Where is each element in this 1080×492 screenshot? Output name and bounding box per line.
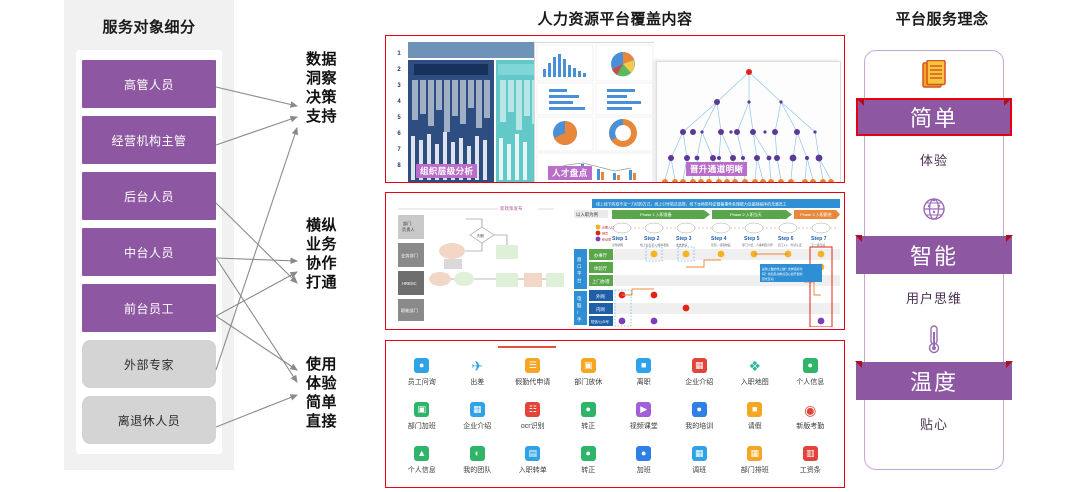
svg-text:录用通知: 录用通知 xyxy=(612,243,623,247)
resignation-icon: ■ xyxy=(636,358,651,373)
app-icon-item[interactable]: ◉新版考勤 xyxy=(783,399,839,443)
app-icon-item[interactable]: ●员工问询 xyxy=(394,355,450,399)
department-overtime-icon: ▣ xyxy=(414,402,429,417)
svg-text:电: 电 xyxy=(577,295,582,301)
new-attendance-icon: ◉ xyxy=(803,402,818,417)
panel-analytics-screenshots[interactable]: 1 2 3 4 5 6 7 8 xyxy=(385,35,845,183)
svg-text:发送邀请: 发送邀请 xyxy=(676,243,687,247)
svg-text:是线上做的线上做？这样选好时: 是线上做的线上做？这样选好时 xyxy=(762,266,803,271)
svg-text:部门介绍、人事制度宣导: 部门介绍、人事制度宣导 xyxy=(742,243,773,247)
svg-text:线上信息录入/材料收集: 线上信息录入/材料收集 xyxy=(640,243,669,247)
svg-text:吗？将您足动重点自心如开展的: 吗？将您足动重点自心如开展的 xyxy=(762,271,803,276)
channel-swimlane-matrix: 线上线下的双不足一刀切的方式，线上引导简洁选择，线下本地带特定整备事件处理能力及… xyxy=(574,197,842,327)
company-intro-icon: ▦ xyxy=(692,358,707,373)
app-icon-item[interactable]: ■请假 xyxy=(727,399,783,443)
center-panel-title: 人力资源平台覆盖内容 xyxy=(385,8,845,29)
outcome-label-data-insight: 数据 洞察 决策 支持 xyxy=(306,50,362,126)
svg-text:Phase 3 入职跟进: Phase 3 入职跟进 xyxy=(800,211,832,217)
leave-request-icon: ■ xyxy=(747,402,762,417)
app-icon-item[interactable]: ✈出差 xyxy=(450,355,506,399)
segment-item[interactable]: 经营机构主管 xyxy=(82,116,216,164)
pillar-banner-simple[interactable]: 简单 xyxy=(856,98,1012,136)
segment-item[interactable]: 中台人员 xyxy=(82,228,216,276)
svg-text:内网: 内网 xyxy=(596,306,605,313)
svg-text:台: 台 xyxy=(577,277,582,284)
svg-text:Step 3: Step 3 xyxy=(676,236,692,242)
ribbon-fold-right-icon xyxy=(1004,99,1011,106)
svg-text:网页: 网页 xyxy=(602,232,608,236)
regularization-icon: ● xyxy=(581,446,596,461)
svg-text:部门: 部门 xyxy=(403,220,411,227)
svg-text:手: 手 xyxy=(577,316,582,323)
document-stack-icon xyxy=(864,60,1004,95)
segment-item[interactable]: 高管人员 xyxy=(82,60,216,108)
left-panel-title: 服务对象细分 xyxy=(64,16,234,37)
right-panel-title: 平台服务理念 xyxy=(862,8,1022,29)
app-icon-item[interactable]: ●个人信息 xyxy=(783,355,839,399)
app-icon-item[interactable]: ●转正 xyxy=(561,443,617,487)
app-icon-item[interactable]: ▦企业介绍 xyxy=(450,399,506,443)
svg-text:脑: 脑 xyxy=(577,302,582,309)
svg-text:Phase 2 入职当天: Phase 2 入职当天 xyxy=(730,211,762,217)
svg-text:窗: 窗 xyxy=(577,256,582,263)
personal-info-icon: ● xyxy=(803,358,818,373)
svg-text:线上线下的双不足一刀切的方式，线上引导简洁选择，线下本地带特: 线上线下的双不足一刀切的方式，线上引导简洁选择，线下本地带特定整备事件处理能力及… xyxy=(596,202,787,207)
svg-text:外网: 外网 xyxy=(596,293,605,300)
svg-text:员工1-1、考试认证: 员工1-1、考试认证 xyxy=(778,243,802,247)
ribbon-fold-left-icon xyxy=(857,99,864,106)
svg-text:签到、领取物品: 签到、领取物品 xyxy=(711,243,731,247)
svg-text:Step 5: Step 5 xyxy=(744,236,760,242)
my-team-icon: ◐ xyxy=(470,446,485,461)
app-icon-item[interactable]: ▦企业介绍 xyxy=(672,355,728,399)
app-icon-item[interactable]: ▲个人信息 xyxy=(394,443,450,487)
svg-text:新政策发布: 新政策发布 xyxy=(500,205,523,212)
business-trip-icon: ✈ xyxy=(470,358,485,373)
pillar-banner-label: 简单 xyxy=(910,101,958,133)
svg-text:业务部门: 业务部门 xyxy=(401,252,418,259)
slide-canvas: 服务对象细分 高管人员 经营机构主管 后台人员 中台人员 前台员工 外部专家 离… xyxy=(0,0,1080,492)
svg-text:形式互动: 形式互动 xyxy=(762,276,774,281)
onboarding-transfer-icon: ▤ xyxy=(525,446,540,461)
ocr-recognition-icon: ☷ xyxy=(525,402,540,417)
shift-change-icon: ▦ xyxy=(692,446,707,461)
svg-text:HRBSC: HRBSC xyxy=(402,281,417,286)
caption-talent-review: 人才盘点 xyxy=(548,166,592,180)
video-class-icon: ▶ xyxy=(636,402,651,417)
app-icon-item[interactable]: ■离职 xyxy=(616,355,672,399)
svg-text:体验厅: 体验厅 xyxy=(594,265,608,272)
promotion-path-tree xyxy=(656,61,841,183)
svg-text:Step 6: Step 6 xyxy=(778,236,794,242)
app-icon-item[interactable]: ▥工资条 xyxy=(783,443,839,487)
ribbon-fold-left-icon xyxy=(855,361,862,368)
ribbon-fold-left-icon xyxy=(855,235,862,242)
company-intro-icon: ▦ xyxy=(470,402,485,417)
accent-divider xyxy=(498,346,556,348)
audience-segment-list: 高管人员 经营机构主管 后台人员 中台人员 前台员工 外部专家 离退休人员 xyxy=(82,60,216,452)
segment-item[interactable]: 外部专家 xyxy=(82,340,216,388)
svg-text:办事厅: 办事厅 xyxy=(594,252,608,259)
segment-item[interactable]: 离退休人员 xyxy=(82,396,216,444)
svg-text:以入职为例: 以入职为例 xyxy=(576,211,599,218)
app-icon-item[interactable]: ☷ocr识别 xyxy=(505,399,561,443)
leave-proxy-apply-icon: ☰ xyxy=(525,358,540,373)
caption-promotion-path: 晋升通道明晰 xyxy=(686,162,747,176)
svg-text:Step 4: Step 4 xyxy=(711,236,727,242)
overtime-icon: ● xyxy=(636,446,651,461)
app-icon-item[interactable]: ▣部门加班 xyxy=(394,399,450,443)
thermometer-icon xyxy=(864,324,1004,359)
outcome-label-collaboration: 横纵 业务 协作 打通 xyxy=(306,216,362,292)
pillar-subtitle: 贴心 xyxy=(864,414,1004,433)
pillar-banner-label: 温度 xyxy=(910,365,958,397)
panel-app-icon-grid[interactable]: ●员工问询 ✈出差 ☰假勤代申请 ▣部门放休 ■离职 ▦企业介绍 ❖入职地图 ●… xyxy=(385,340,845,488)
svg-text:职能部门: 职能部门 xyxy=(401,307,418,314)
department-schedule-icon: ▦ xyxy=(747,446,762,461)
svg-text:Step 1: Step 1 xyxy=(612,236,628,242)
pillar-banner-label: 智能 xyxy=(910,239,958,271)
app-icon-item[interactable]: ▤入职转单 xyxy=(505,443,561,487)
svg-text:Step 2: Step 2 xyxy=(644,236,660,242)
svg-text:上门办理: 上门办理 xyxy=(592,278,610,285)
app-icon-item[interactable]: ●加班 xyxy=(616,443,672,487)
app-icon-item[interactable]: ☰假勤代申请 xyxy=(505,355,561,399)
payslip-icon: ▥ xyxy=(803,446,818,461)
ribbon-fold-right-icon xyxy=(1006,235,1013,242)
svg-text:下一步行动: 下一步行动 xyxy=(811,243,825,247)
outcome-label-experience: 使用 体验 简单 直接 xyxy=(306,355,362,431)
app-icon-item[interactable]: ●转正 xyxy=(561,399,617,443)
staff-inquiry-icon: ● xyxy=(414,358,429,373)
onboarding-map-icon: ❖ xyxy=(747,358,762,373)
pillar-banner-intelligent[interactable]: 智能 xyxy=(856,236,1012,274)
my-training-icon: ● xyxy=(692,402,707,417)
personal-info-icon: ▲ xyxy=(414,446,429,461)
svg-text:Step 7: Step 7 xyxy=(811,236,827,242)
app-icon-grid: ●员工问询 ✈出差 ☰假勤代申请 ▣部门放休 ■离职 ▦企业介绍 ❖入职地图 ●… xyxy=(394,355,838,487)
svg-text:必要入口: 必要入口 xyxy=(602,225,614,230)
talent-dashboard xyxy=(534,42,654,183)
app-icon-item[interactable]: ▶视频课堂 xyxy=(616,399,672,443)
app-icon-item[interactable]: ▦部门排班 xyxy=(727,443,783,487)
svg-text:短信/公众号: 短信/公众号 xyxy=(591,319,610,324)
app-icon-item[interactable]: ●我的培训 xyxy=(672,399,728,443)
process-flow-diagram: 新政策发布 部门 负责人 业务部门 HRBSC 职能部门 判断 xyxy=(394,199,569,325)
app-icon-item[interactable]: ▣部门放休 xyxy=(561,355,617,399)
svg-text:口: 口 xyxy=(577,264,581,269)
org-row-numbers: 1 2 3 4 5 6 7 8 xyxy=(392,46,406,174)
globe-network-icon xyxy=(864,196,1004,227)
pillar-banner-warmth[interactable]: 温度 xyxy=(856,362,1012,400)
segment-item[interactable]: 后台人员 xyxy=(82,172,216,220)
ribbon-fold-right-icon xyxy=(1006,361,1013,368)
svg-text:负责人: 负责人 xyxy=(402,226,415,233)
regularization-icon: ● xyxy=(581,402,596,417)
svg-text:判断: 判断 xyxy=(477,233,485,238)
svg-text:Phase 1 入职准备: Phase 1 入职准备 xyxy=(640,211,672,217)
pillar-subtitle: 体验 xyxy=(864,150,1004,169)
app-icon-item[interactable]: ▦调班 xyxy=(672,443,728,487)
pillar-subtitle: 用户思维 xyxy=(864,288,1004,307)
segment-item[interactable]: 前台员工 xyxy=(82,284,216,332)
panel-service-journey[interactable]: 新政策发布 部门 负责人 业务部门 HRBSC 职能部门 判断 xyxy=(385,192,845,330)
caption-org-analysis: 组织层级分析 xyxy=(416,164,477,178)
app-icon-item[interactable]: ❖入职地图 xyxy=(727,355,783,399)
department-holiday-icon: ▣ xyxy=(581,358,596,373)
app-icon-item[interactable]: ◐我的团队 xyxy=(450,443,506,487)
svg-text:移动端: 移动端 xyxy=(602,237,611,242)
